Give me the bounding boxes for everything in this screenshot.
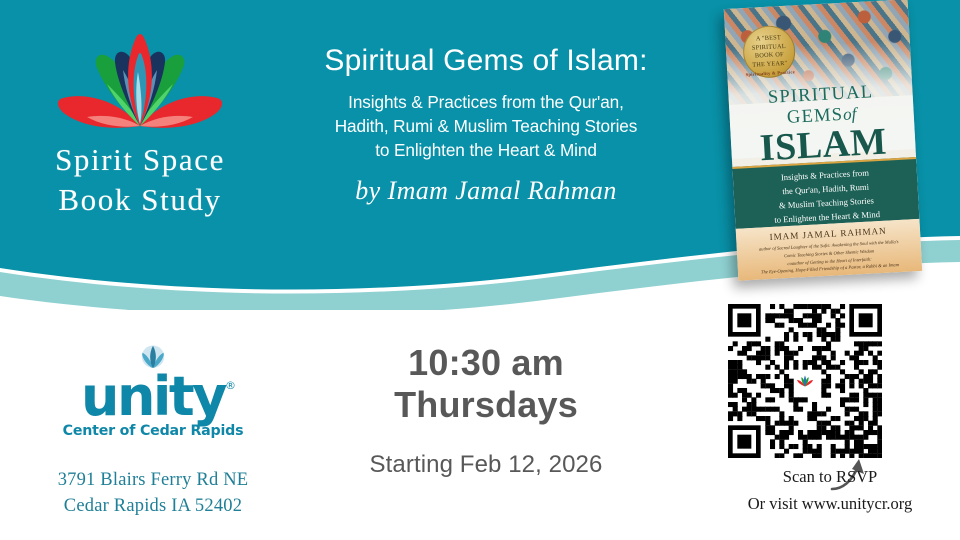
brand-line-1: Spirit Space: [24, 140, 256, 180]
flyer-canvas: Spirit Space Book Study Spiritual Gems o…: [0, 0, 960, 540]
event-title-block: Spiritual Gems of Islam: Insights & Prac…: [258, 44, 714, 206]
seal-line-3: BOOK OF: [755, 51, 784, 60]
book-cover-subtitle-band: Insights & Practices from the Qur'an, Ha…: [732, 157, 919, 229]
rsvp-visit-text: Or visit www.unitycr.org: [710, 491, 950, 518]
event-time: 10:30 am: [300, 342, 672, 384]
seal-line-4: THE YEAR": [752, 59, 787, 68]
subtitle-line-3: to Enlighten the Heart & Mind: [258, 138, 714, 162]
book-cover-author-band: IMAM JAMAL RAHMAN author of Sacred Laugh…: [736, 219, 923, 281]
brand-line-2: Book Study: [24, 180, 256, 220]
venue-block: unity ® Center of Cedar Rapids 3791 Blai…: [28, 344, 278, 520]
qr-center-lotus-icon: [794, 373, 816, 389]
seal-line-2: SPIRITUAL: [752, 42, 786, 51]
venue-name-text: unity: [81, 365, 225, 428]
book-cover-image: A "BEST SPIRITUAL BOOK OF THE YEAR" Spir…: [724, 0, 922, 281]
rsvp-block: Scan to RSVP Or visit www.unitycr.org: [700, 304, 950, 458]
qr-code[interactable]: [728, 304, 882, 458]
venue-address-line-2: Cedar Rapids IA 52402: [28, 493, 278, 520]
registered-trademark-icon: ®: [225, 381, 236, 391]
subtitle-line-1: Insights & Practices from the Qur'an,: [258, 90, 714, 114]
venue-address: 3791 Blairs Ferry Rd NE Cedar Rapids IA …: [28, 467, 278, 521]
spirit-space-brand: Spirit Space Book Study: [24, 18, 256, 221]
seal-line-1: A "BEST: [756, 34, 781, 42]
venue-address-line-1: 3791 Blairs Ferry Rd NE: [28, 467, 278, 494]
event-start-date: Starting Feb 12, 2026: [300, 451, 672, 479]
venue-name: unity ®: [81, 372, 225, 422]
book-author-credits: author of Sacred Laughter of the Sufis: …: [737, 237, 922, 278]
rsvp-instructions: Scan to RSVP Or visit www.unitycr.org: [710, 464, 950, 517]
book-cover-title: SPIRITUAL GEMSof ISLAM: [728, 81, 916, 169]
event-day: Thursdays: [300, 384, 672, 426]
schedule-block: 10:30 am Thursdays Starting Feb 12, 2026: [300, 342, 672, 479]
page-title: Spiritual Gems of Islam:: [258, 44, 714, 79]
subtitle-line-2: Hadith, Rumi & Muslim Teaching Stories: [258, 114, 714, 138]
event-subtitle: Insights & Practices from the Qur'an, Ha…: [258, 90, 714, 163]
book-title-of: of: [843, 104, 857, 124]
lotus-icon: [45, 18, 235, 140]
event-author: by Imam Jamal Rahman: [258, 176, 714, 206]
rsvp-scan-text: Scan to RSVP: [710, 464, 950, 491]
